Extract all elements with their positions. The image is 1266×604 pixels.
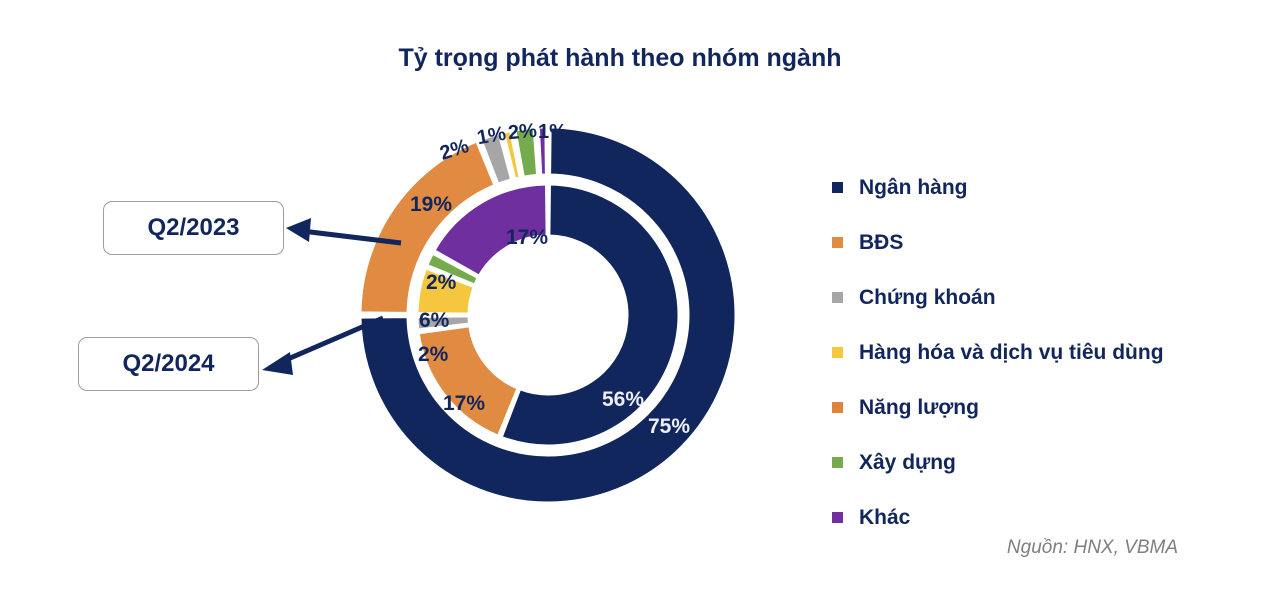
legend-item-label: Hàng hóa và dịch vụ tiêu dùng: [859, 341, 1164, 365]
legend-item-label: Ngân hàng: [859, 176, 968, 200]
legend-item[interactable]: Chứng khoán: [832, 270, 1232, 325]
legend-swatch-icon: [832, 237, 843, 248]
callout-q2-2023-label: Q2/2023: [147, 214, 239, 242]
pct-inner-bank: 56%: [602, 389, 644, 410]
legend-item[interactable]: BĐS: [832, 215, 1232, 270]
pct-outer-other: 1%: [538, 122, 567, 142]
legend-item-label: Năng lượng: [859, 396, 979, 420]
pct-outer-construction: 2%: [507, 121, 538, 143]
legend-item-label: Chứng khoán: [859, 286, 996, 310]
callout-q2-2023[interactable]: Q2/2023: [103, 201, 284, 255]
pct-inner-realestate: 17%: [443, 393, 485, 414]
pct-outer-bank: 75%: [648, 416, 690, 437]
callout-q2-2024-label: Q2/2024: [122, 350, 214, 378]
page-title: Tỷ trọng phát hành theo nhóm ngành: [0, 44, 1240, 73]
legend-item-label: BĐS: [859, 231, 903, 255]
legend-swatch-icon: [832, 292, 843, 303]
legend-item-label: Xây dựng: [859, 451, 956, 475]
donut-chart: 75% 19% 2% 1% 2% 1% 56% 17% 2% 6% 2% 17%: [330, 108, 770, 528]
legend-swatch-icon: [832, 457, 843, 468]
callout-q2-2024[interactable]: Q2/2024: [78, 337, 259, 391]
pct-inner-consumer: 6%: [419, 310, 449, 331]
legend-item-label: Khác: [859, 506, 910, 530]
pct-inner-construction: 2%: [426, 272, 456, 293]
pct-inner-other: 17%: [506, 227, 548, 248]
legend-swatch-icon: [832, 402, 843, 413]
legend-swatch-icon: [832, 347, 843, 358]
legend: Ngân hàngBĐSChứng khoánHàng hóa và dịch …: [832, 160, 1232, 545]
legend-item[interactable]: Hàng hóa và dịch vụ tiêu dùng: [832, 325, 1232, 380]
source-note: Nguồn: HNX, VBMA: [1007, 537, 1178, 559]
legend-item[interactable]: Xây dựng: [832, 435, 1232, 490]
donut-chart-svg: [330, 108, 770, 528]
legend-swatch-icon: [832, 182, 843, 193]
legend-swatch-icon: [832, 512, 843, 523]
pct-outer-consumer: 1%: [475, 124, 507, 149]
legend-item[interactable]: Ngân hàng: [832, 160, 1232, 215]
legend-item[interactable]: Năng lượng: [832, 380, 1232, 435]
pct-inner-securities: 2%: [418, 344, 448, 365]
pct-outer-realestate: 19%: [410, 194, 452, 215]
